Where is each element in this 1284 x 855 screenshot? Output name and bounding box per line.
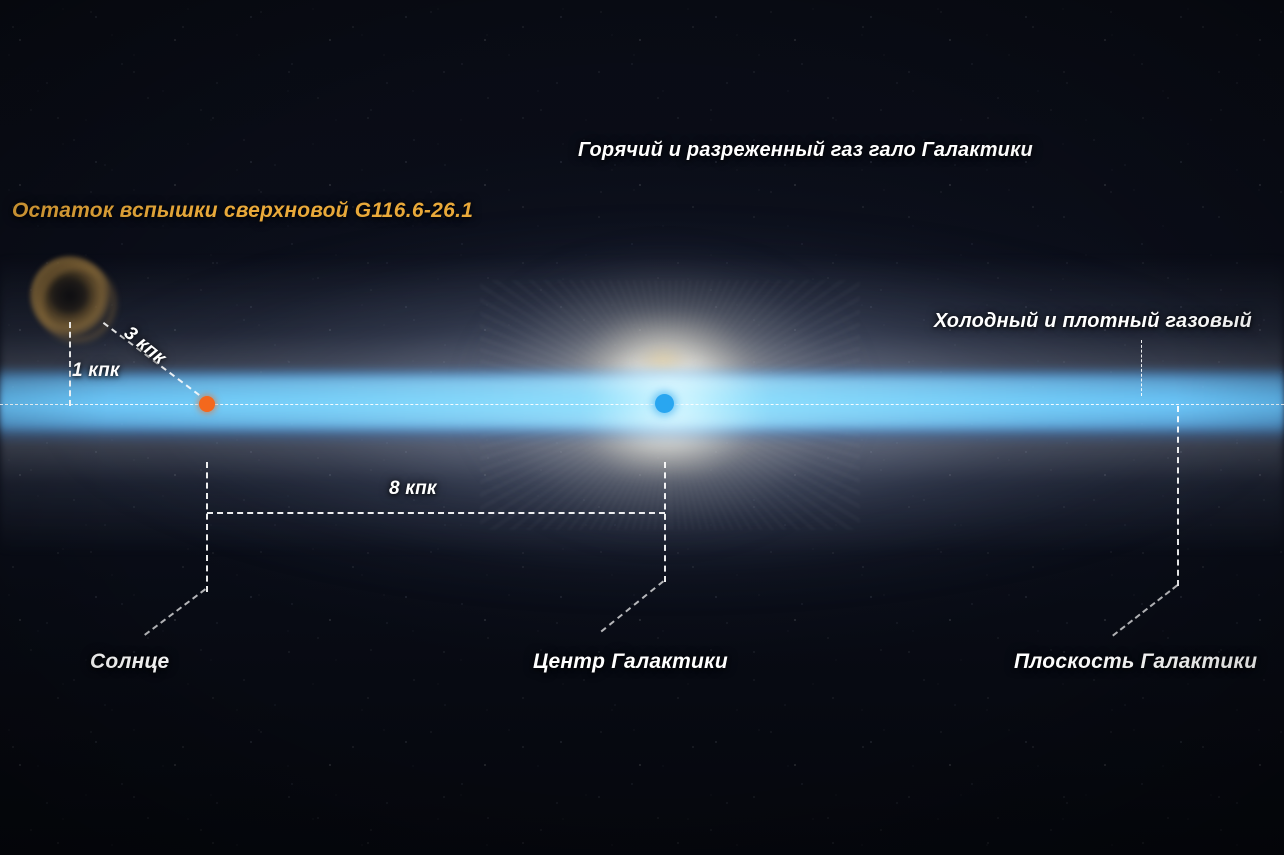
galactic-plane-label: Плоскость Галактики bbox=[1014, 650, 1257, 674]
center-drop-line bbox=[664, 462, 666, 582]
cold-gas-label: Холодный и плотный газовый bbox=[934, 310, 1252, 333]
supernova-remnant-label: Остаток вспышки сверхновой G116.6-26.1 bbox=[12, 199, 473, 223]
galactic-plane-axis bbox=[0, 404, 1284, 405]
galactic-center-marker[interactable] bbox=[655, 394, 674, 413]
sun-marker[interactable] bbox=[199, 396, 215, 412]
supernova-remnant-label-text: Остаток вспышки сверхновой bbox=[12, 199, 355, 222]
galactic-plane-drop-line bbox=[1177, 406, 1179, 586]
sun-drop-line bbox=[206, 462, 208, 592]
distance-label-1kpc: 1 кпк bbox=[72, 360, 120, 382]
distance-line-8kpc bbox=[207, 512, 665, 514]
sun-label: Солнце bbox=[90, 650, 169, 674]
galactic-center-label: Центр Галактики bbox=[533, 650, 728, 674]
remnant-core bbox=[52, 280, 88, 312]
distance-line-1kpc bbox=[69, 322, 71, 406]
supernova-remnant-code: G116.6-26.1 bbox=[355, 199, 474, 222]
halo-gas-label: Горячий и разреженный газ гало Галактики bbox=[578, 139, 1033, 162]
cold-gas-leader-line bbox=[1141, 340, 1142, 396]
galactic-center-glow bbox=[560, 340, 790, 470]
galaxy-diagram: Остаток вспышки сверхновой G116.6-26.1 Г… bbox=[0, 0, 1284, 855]
distance-label-8kpc: 8 кпк bbox=[389, 478, 437, 500]
